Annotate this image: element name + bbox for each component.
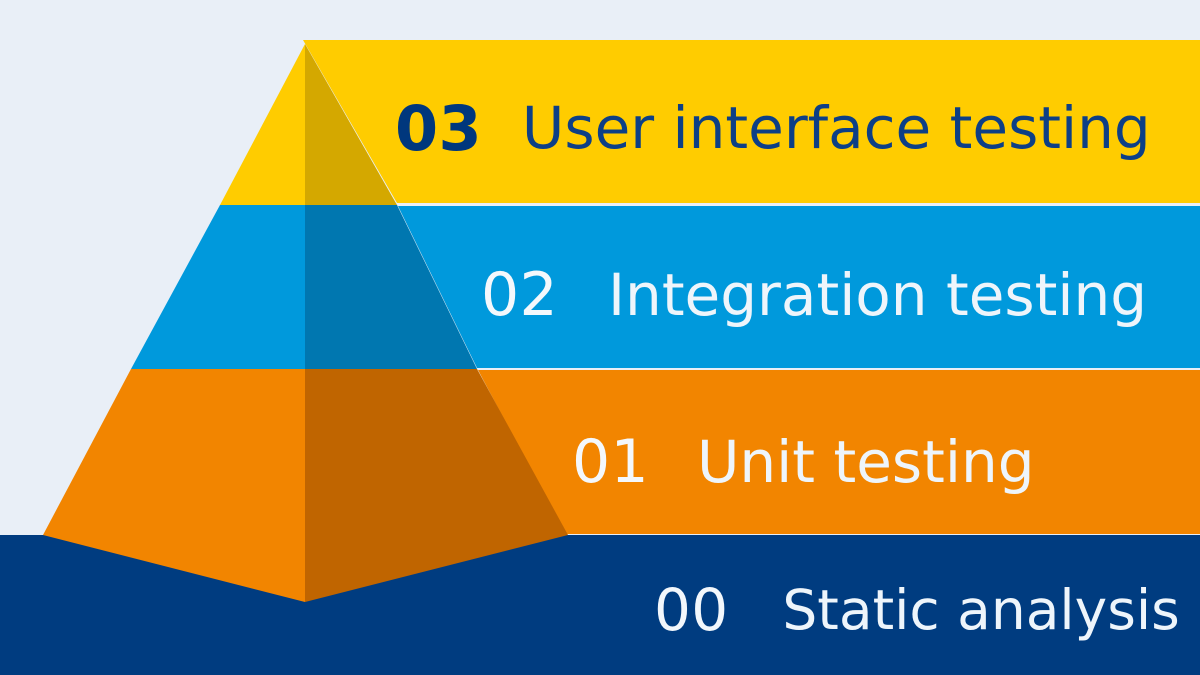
pyramid-diagram-canvas: 03 User interface testing 02 Integration… <box>0 0 1200 675</box>
band-2-integration-testing <box>398 206 1200 368</box>
pyramid-figure <box>0 0 1200 675</box>
band-3-user-interface-testing <box>303 40 1200 203</box>
band-1-unit-testing <box>478 370 1200 534</box>
